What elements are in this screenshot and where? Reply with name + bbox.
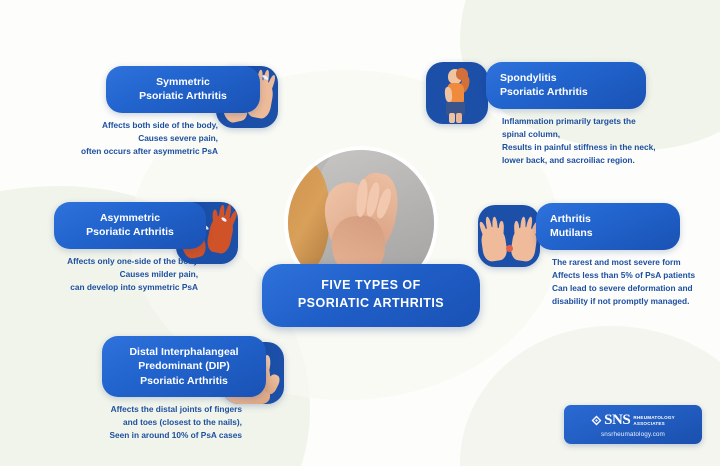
heading-line-1: Spondylitis bbox=[500, 71, 632, 85]
logo-sub-line-2: ASSOCIATES bbox=[633, 421, 665, 426]
node-spondylitis-heading: Spondylitis Psoriatic Arthritis bbox=[486, 62, 646, 109]
node-dip-description: Affects the distal joints of fingers and… bbox=[50, 403, 304, 442]
logo-subtitle: RHEUMATOLOGY ASSOCIATES bbox=[633, 415, 675, 426]
node-mutilans[interactable]: Arthritis Mutilans The rarest and most s… bbox=[476, 203, 716, 307]
logo[interactable]: SNS RHEUMATOLOGY ASSOCIATES snsrheumatol… bbox=[564, 405, 702, 444]
heading-line-1: Asymmetric bbox=[68, 211, 192, 225]
node-spondylitis[interactable]: Spondylitis Psoriatic Arthritis Inflamma… bbox=[424, 62, 714, 166]
node-dip-heading: Distal Interphalangeal Predominant (DIP)… bbox=[102, 336, 266, 397]
title-line-2: PSORIATIC ARTHRITIS bbox=[272, 295, 470, 313]
node-spondylitis-description: Inflammation primarily targets the spina… bbox=[424, 115, 714, 166]
node-dip[interactable]: Distal Interphalangeal Predominant (DIP)… bbox=[50, 336, 304, 442]
heading-line-1: Distal Interphalangeal bbox=[116, 345, 252, 359]
heading-line-1: Arthritis bbox=[550, 212, 666, 226]
logo-brand: SNS bbox=[604, 412, 630, 429]
node-asymmetric-description: Affects only one-side of the body Causes… bbox=[4, 255, 250, 294]
node-symmetric[interactable]: Symmetric Psoriatic Arthritis Affects bo… bbox=[10, 66, 260, 158]
heading-line-2: Predominant (DIP) bbox=[116, 359, 252, 373]
heading-line-2: Psoriatic Arthritis bbox=[68, 225, 192, 239]
title-line-1: FIVE TYPES OF bbox=[272, 277, 470, 295]
logo-url[interactable]: snsrheumatology.com bbox=[572, 431, 694, 438]
heading-line-2: Mutilans bbox=[550, 226, 666, 240]
node-asymmetric[interactable]: Asymmetric Psoriatic Arthritis Affects o… bbox=[4, 202, 250, 294]
node-symmetric-description: Affects both side of the body, Causes se… bbox=[10, 119, 260, 158]
logo-row: SNS RHEUMATOLOGY ASSOCIATES bbox=[572, 412, 694, 429]
heading-line-3: Psoriatic Arthritis bbox=[116, 374, 252, 388]
node-asymmetric-heading: Asymmetric Psoriatic Arthritis bbox=[54, 202, 206, 249]
heading-line-2: Psoriatic Arthritis bbox=[500, 85, 632, 99]
node-symmetric-heading: Symmetric Psoriatic Arthritis bbox=[106, 66, 260, 113]
diamond-mark-icon bbox=[591, 415, 602, 426]
node-mutilans-description: The rarest and most severe form Affects … bbox=[476, 256, 716, 307]
heading-line-2: Psoriatic Arthritis bbox=[120, 89, 246, 103]
infographic-canvas: FIVE TYPES OF PSORIATIC ARTHRITIS Symmet… bbox=[0, 0, 720, 466]
heading-line-1: Symmetric bbox=[120, 75, 246, 89]
page-title: FIVE TYPES OF PSORIATIC ARTHRITIS bbox=[262, 264, 480, 327]
node-mutilans-heading: Arthritis Mutilans bbox=[536, 203, 680, 250]
